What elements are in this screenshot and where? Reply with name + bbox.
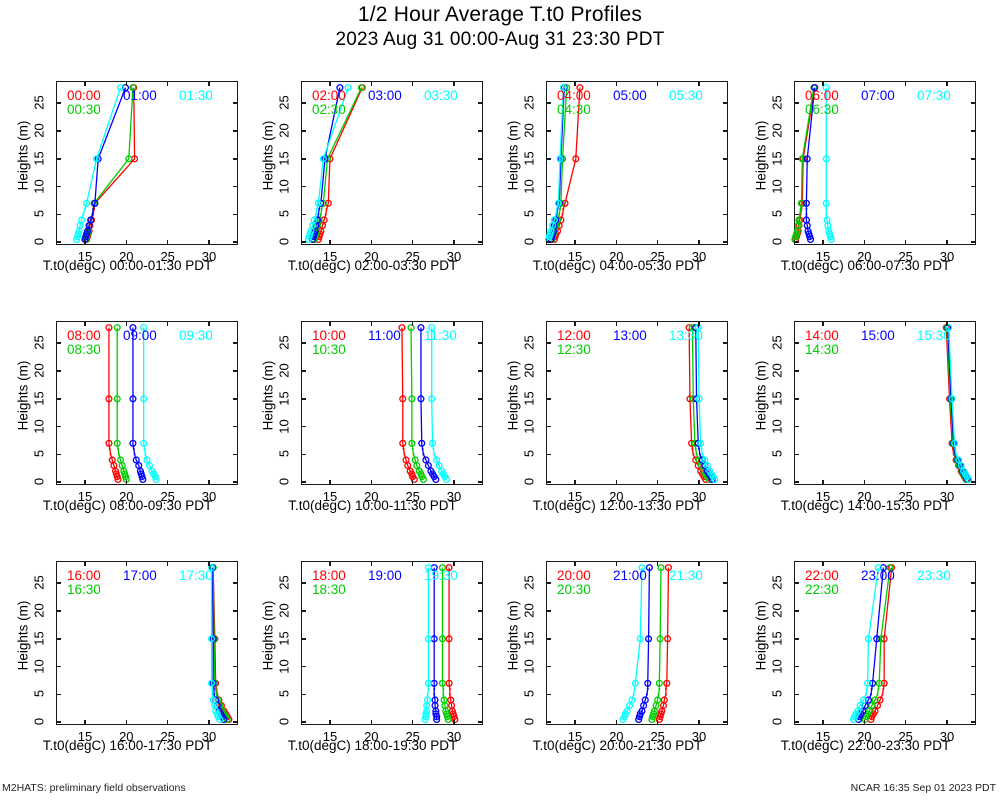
legend-label-1230: 12:30 [557,342,591,357]
y-tick-label: 10 [32,654,47,678]
legend-label-1800: 18:00 [312,568,346,583]
y-tick-right [233,454,238,456]
profile-panel-3: 152025300510152025Heights (m)T.t0(degC) … [743,62,988,302]
y-tick-label: 25 [32,571,47,595]
data-point-small [442,694,444,696]
x-tick-top [329,81,331,86]
y-tick-right [233,398,238,400]
y-tick-right [723,426,728,428]
y-tick [56,370,61,372]
y-tick-right [723,721,728,723]
data-point-small [422,448,424,450]
y-tick-right [723,610,728,612]
x-tick [412,480,414,485]
y-tick [546,666,551,668]
legend-label-1930: 19:30 [424,568,458,583]
x-tick-top [864,321,866,326]
y-tick-right [233,102,238,104]
title-block: 1/2 Hour Average T.t0 Profiles 2023 Aug … [0,2,1000,52]
legend-label-1700: 17:00 [123,568,157,583]
data-point-small [647,688,649,690]
x-tick-top [698,321,700,326]
y-tick [546,186,551,188]
y-tick-label: 15 [32,626,47,650]
data-point-small [118,454,120,456]
x-tick [453,720,455,725]
data-point-small [433,688,435,690]
data-point-small [806,208,808,210]
legend-label-0000: 00:00 [67,88,101,103]
x-axis-title: T.t0(degC) 12:00-13:30 PDT [495,498,740,513]
y-tick-right [478,666,483,668]
y-tick [56,186,61,188]
x-tick-top [946,561,948,566]
y-tick [301,241,306,243]
y-tick-label: 10 [277,414,292,438]
x-tick-top [616,561,618,566]
x-tick [412,720,414,725]
series-1800 [446,565,458,723]
data-point-small [134,454,136,456]
y-tick [301,102,306,104]
x-tick [453,240,455,245]
y-tick-label: 5 [770,442,785,466]
y-tick-label: 20 [522,359,537,383]
x-tick-top [208,321,210,326]
series-2130 [620,565,645,723]
page-title: 1/2 Hour Average T.t0 Profiles [0,2,1000,28]
profile-panel-7: 152025300510152025Heights (m)T.t0(degC) … [743,302,988,542]
data-point-small [216,694,218,696]
data-point-small [701,454,703,456]
data-point-small [92,214,94,216]
legend-label-1500: 15:00 [861,328,895,343]
y-tick [546,721,551,723]
x-axis-title: T.t0(degC) 22:00-23:30 PDT [743,738,988,753]
legend-label-0300: 03:00 [368,88,402,103]
y-tick-label: 25 [522,331,537,355]
data-point-small [412,448,414,450]
y-tick [56,582,61,584]
profile-panel-10: 152025300510152025Heights (m)T.t0(degC) … [495,542,740,782]
data-point-small [800,208,802,210]
legend-label-0130: 01:30 [179,88,213,103]
y-tick-right [233,130,238,132]
y-tick-label: 0 [770,470,785,494]
x-tick [657,480,659,485]
legend-label-0330: 03:30 [424,88,458,103]
data-point-small [449,688,451,690]
x-tick-top [864,81,866,86]
data-point-small [558,214,560,216]
y-tick-label: 25 [522,571,537,595]
y-tick-label: 25 [32,91,47,115]
y-tick-label: 5 [522,442,537,466]
y-tick-right [723,454,728,456]
y-tick-label: 5 [522,202,537,226]
x-tick [946,720,948,725]
data-point-small [871,688,873,690]
y-tick-right [233,638,238,640]
y-tick-label: 25 [770,571,785,595]
data-point-small [658,694,660,696]
data-point-small [413,454,415,456]
data-point-small [117,448,119,450]
y-tick [546,610,551,612]
profile-panel-5: 152025300510152025Heights (m)T.t0(degC) … [250,302,495,542]
x-tick [329,720,331,725]
y-tick-right [723,130,728,132]
y-tick [546,214,551,216]
y-tick-label: 20 [277,599,292,623]
y-tick [56,666,61,668]
x-tick-top [167,81,169,86]
y-tick-label: 20 [770,119,785,143]
x-tick-top [126,81,128,86]
data-point-small [865,694,867,696]
y-tick [56,610,61,612]
x-tick [698,480,700,485]
y-tick [301,638,306,640]
series-0930 [141,325,159,483]
data-point-small [428,688,430,690]
x-tick-top [574,561,576,566]
legend-label-1330: 13:30 [669,328,703,343]
data-point-small [403,448,405,450]
x-tick-top [946,321,948,326]
x-tick [84,240,86,245]
y-tick-right [723,582,728,584]
legend-label-1030: 10:30 [312,342,346,357]
y-tick-label: 20 [277,359,292,383]
x-tick-top [453,321,455,326]
x-tick-top [208,81,210,86]
y-tick [56,398,61,400]
y-tick-label: 25 [522,91,537,115]
x-axis-title: T.t0(degC) 16:00-17:30 PDT [5,738,250,753]
x-tick [698,240,700,245]
x-tick [208,720,210,725]
x-tick-top [616,321,618,326]
legend-label-1600: 16:00 [67,568,101,583]
y-tick-right [478,582,483,584]
y-tick [794,454,799,456]
x-axis-title: T.t0(degC) 14:00-15:30 PDT [743,498,988,513]
data-point-small [825,208,827,210]
y-tick [794,102,799,104]
y-tick-right [723,158,728,160]
y-tick-label: 10 [770,414,785,438]
data-point-small [698,448,700,450]
y-tick-label: 15 [32,146,47,170]
y-tick-right [971,102,976,104]
y-axis-title: Heights (m) [506,586,521,686]
x-tick-top [905,321,907,326]
x-tick-top [126,321,128,326]
y-tick-right [233,342,238,344]
profile-panel-6: 152025300510152025Heights (m)T.t0(degC) … [495,302,740,542]
data-point-small [646,694,648,696]
x-axis-title: T.t0(degC) 18:00-19:30 PDT [250,738,495,753]
legend-label-1730: 17:30 [179,568,213,583]
x-tick [84,720,86,725]
data-point-small [825,214,827,216]
x-tick-top [371,561,373,566]
chart-page: 1/2 Hour Average T.t0 Profiles 2023 Aug … [0,0,1000,800]
y-tick [546,638,551,640]
x-tick-top [208,561,210,566]
x-tick [616,240,618,245]
y-tick-label: 5 [32,202,47,226]
y-tick-label: 15 [522,626,537,650]
data-point-small [133,448,135,450]
y-tick [794,638,799,640]
y-tick [546,342,551,344]
y-tick-right [723,398,728,400]
y-tick-right [971,370,976,372]
y-tick [794,342,799,344]
y-tick-label: 5 [770,682,785,706]
y-tick-right [971,610,976,612]
legend-label-2030: 20:30 [557,582,591,597]
y-tick [546,426,551,428]
x-tick [946,480,948,485]
legend-label-0500: 05:00 [613,88,647,103]
y-tick-label: 5 [277,682,292,706]
y-tick-right [233,241,238,243]
x-tick [616,720,618,725]
legend-label-1300: 13:00 [613,328,647,343]
y-tick-right [478,481,483,483]
x-tick [371,240,373,245]
y-tick-right [233,610,238,612]
y-tick [56,158,61,160]
data-point-small [318,208,320,210]
y-tick-label: 20 [522,599,537,623]
y-tick-right [723,102,728,104]
y-tick-label: 10 [277,174,292,198]
profile-panel-0: 152025300510152025Heights (m)T.t0(degC) … [5,62,250,302]
y-tick-label: 10 [277,654,292,678]
y-tick-label: 20 [522,119,537,143]
y-tick-label: 0 [32,470,47,494]
series-1900 [431,565,439,723]
y-tick-right [478,638,483,640]
y-tick-right [971,694,976,696]
legend-label-2230: 22:30 [805,582,839,597]
y-tick-label: 10 [522,414,537,438]
x-axis-title: T.t0(degC) 08:00-09:30 PDT [5,498,250,513]
y-tick-right [723,342,728,344]
y-tick-right [478,214,483,216]
y-tick-label: 15 [770,386,785,410]
profile-panel-11: 152025300510152025Heights (m)T.t0(degC) … [743,542,988,782]
footer-right-note: NCAR 16:35 Sep 01 2023 PDT [851,782,996,794]
x-tick-top [412,561,414,566]
y-tick-label: 25 [770,331,785,355]
x-tick-top [167,561,169,566]
data-point-small [82,214,84,216]
x-tick [864,720,866,725]
data-point-small [433,694,435,696]
y-axis-title: Heights (m) [16,106,31,206]
series-line [144,328,156,480]
y-tick-label: 5 [32,682,47,706]
y-tick-label: 20 [277,119,292,143]
y-tick [301,721,306,723]
y-tick-right [971,241,976,243]
y-tick [56,638,61,640]
x-tick-top [84,321,86,326]
y-tick [56,102,61,104]
y-tick-right [723,481,728,483]
x-tick [946,240,948,245]
y-tick-right [233,721,238,723]
data-point-small [665,688,667,690]
y-tick-right [723,241,728,243]
data-point-small [695,448,697,450]
profile-panel-4: 152025300510152025Heights (m)T.t0(degC) … [5,302,250,542]
x-tick [329,480,331,485]
y-tick [794,130,799,132]
y-tick-label: 0 [277,470,292,494]
y-tick-label: 25 [277,571,292,595]
x-tick-top [412,81,414,86]
x-tick-top [698,81,700,86]
data-point-small [213,694,215,696]
legend-label-0100: 01:00 [123,88,157,103]
data-point-small [877,694,879,696]
y-tick [301,130,306,132]
y-tick-right [478,426,483,428]
legend-label-0030: 00:30 [67,102,101,117]
x-tick-top [574,321,576,326]
x-tick-top [453,561,455,566]
y-tick [794,610,799,612]
series-2230 [862,565,893,723]
series-0800 [106,325,121,483]
y-tick-right [971,158,976,160]
y-tick-right [971,454,976,456]
y-tick [301,481,306,483]
x-tick-top [698,561,700,566]
y-tick-right [233,694,238,696]
y-tick-right [971,582,976,584]
x-tick [371,720,373,725]
y-axis-title: Heights (m) [754,346,769,446]
data-point-small [556,208,558,210]
y-tick-label: 0 [522,470,537,494]
legend-label-0430: 04:30 [557,102,591,117]
x-tick [84,480,86,485]
legend-label-2000: 20:00 [557,568,591,583]
x-tick [864,480,866,485]
legend-label-0730: 07:30 [917,88,951,103]
y-tick-label: 25 [770,91,785,115]
y-tick [301,426,306,428]
y-axis-title: Heights (m) [261,586,276,686]
x-tick [167,480,169,485]
y-tick-label: 15 [32,386,47,410]
y-tick-label: 25 [277,331,292,355]
data-point-small [882,694,884,696]
y-tick-right [233,186,238,188]
y-tick-label: 15 [277,386,292,410]
data-point-small [696,454,698,456]
x-tick [412,240,414,245]
y-tick-right [478,370,483,372]
y-tick-right [723,370,728,372]
y-tick [794,186,799,188]
x-tick-top [905,81,907,86]
data-point-small [634,688,636,690]
y-tick [301,370,306,372]
data-point-small [882,688,884,690]
y-tick-right [233,370,238,372]
data-point-small [84,208,86,210]
y-tick-right [478,158,483,160]
data-point-small [423,454,425,456]
y-tick-right [233,666,238,668]
y-tick [56,454,61,456]
data-point-small [144,454,146,456]
profile-panel-2: 152025300510152025Heights (m)T.t0(degC) … [495,62,740,302]
legend-label-0630: 06:30 [805,102,839,117]
x-tick [905,720,907,725]
x-tick-top [616,81,618,86]
y-tick [546,102,551,104]
data-point-small [806,214,808,216]
data-point-small [555,214,557,216]
y-tick-label: 25 [277,91,292,115]
profile-panel-1: 152025300510152025Heights (m)T.t0(degC) … [250,62,495,302]
x-tick [698,720,700,725]
y-tick [546,454,551,456]
x-tick [208,240,210,245]
y-tick-label: 0 [522,230,537,254]
x-tick [167,720,169,725]
y-tick-right [478,721,483,723]
y-tick-right [971,721,976,723]
x-tick [616,480,618,485]
y-tick-label: 5 [32,442,47,466]
x-tick-top [864,561,866,566]
y-tick [56,481,61,483]
data-point-small [433,454,435,456]
legend-label-1130: 11:30 [424,328,457,343]
data-point-small [213,688,215,690]
y-tick [546,398,551,400]
x-tick [574,720,576,725]
y-tick-right [233,158,238,160]
data-point-small [562,214,564,216]
y-tick-label: 0 [277,710,292,734]
x-tick [126,480,128,485]
y-axis-title: Heights (m) [261,346,276,446]
x-tick [126,720,128,725]
y-tick [301,398,306,400]
data-point-small [442,688,444,690]
data-point-small [699,454,701,456]
x-tick-top [574,81,576,86]
legend-label-0930: 09:30 [179,328,213,343]
x-tick [574,480,576,485]
y-tick-right [723,214,728,216]
y-tick [794,398,799,400]
series-1930 [422,565,431,723]
data-point-small [92,208,94,210]
y-tick [301,342,306,344]
